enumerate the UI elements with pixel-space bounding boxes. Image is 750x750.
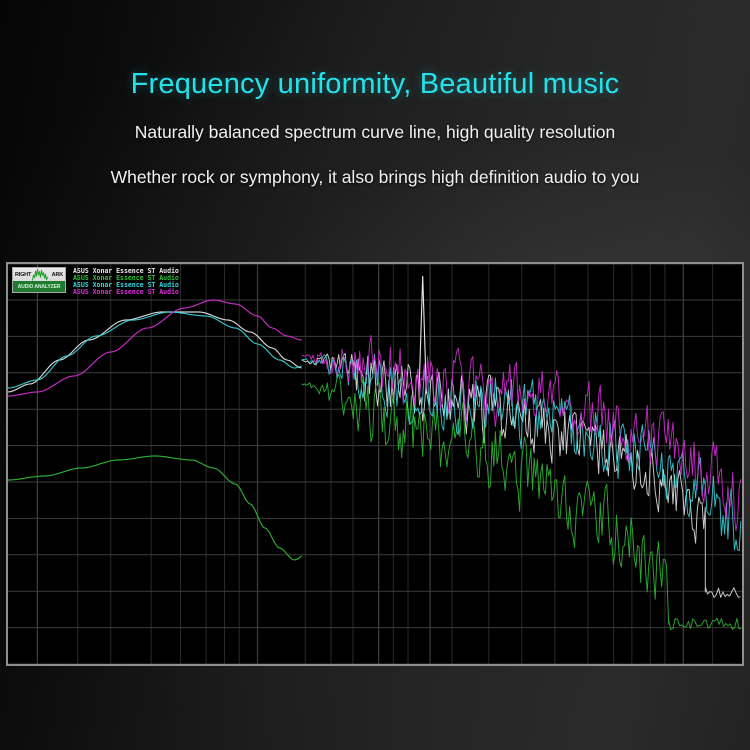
hero-subtitle-1: Naturally balanced spectrum curve line, …: [135, 122, 616, 143]
promo-page: Frequency uniformity, Beautiful music Na…: [0, 0, 750, 750]
spectrum-plot: [8, 264, 742, 664]
hero-subtitle-2: Whether rock or symphony, it also brings…: [111, 167, 640, 188]
rmaa-spectrum-chart: RIGHT ARK AUDIO ANALYZER ASUS Xonar Esse…: [6, 262, 744, 666]
hero-section: Frequency uniformity, Beautiful music Na…: [0, 0, 750, 252]
page-title: Frequency uniformity, Beautiful music: [131, 68, 620, 101]
